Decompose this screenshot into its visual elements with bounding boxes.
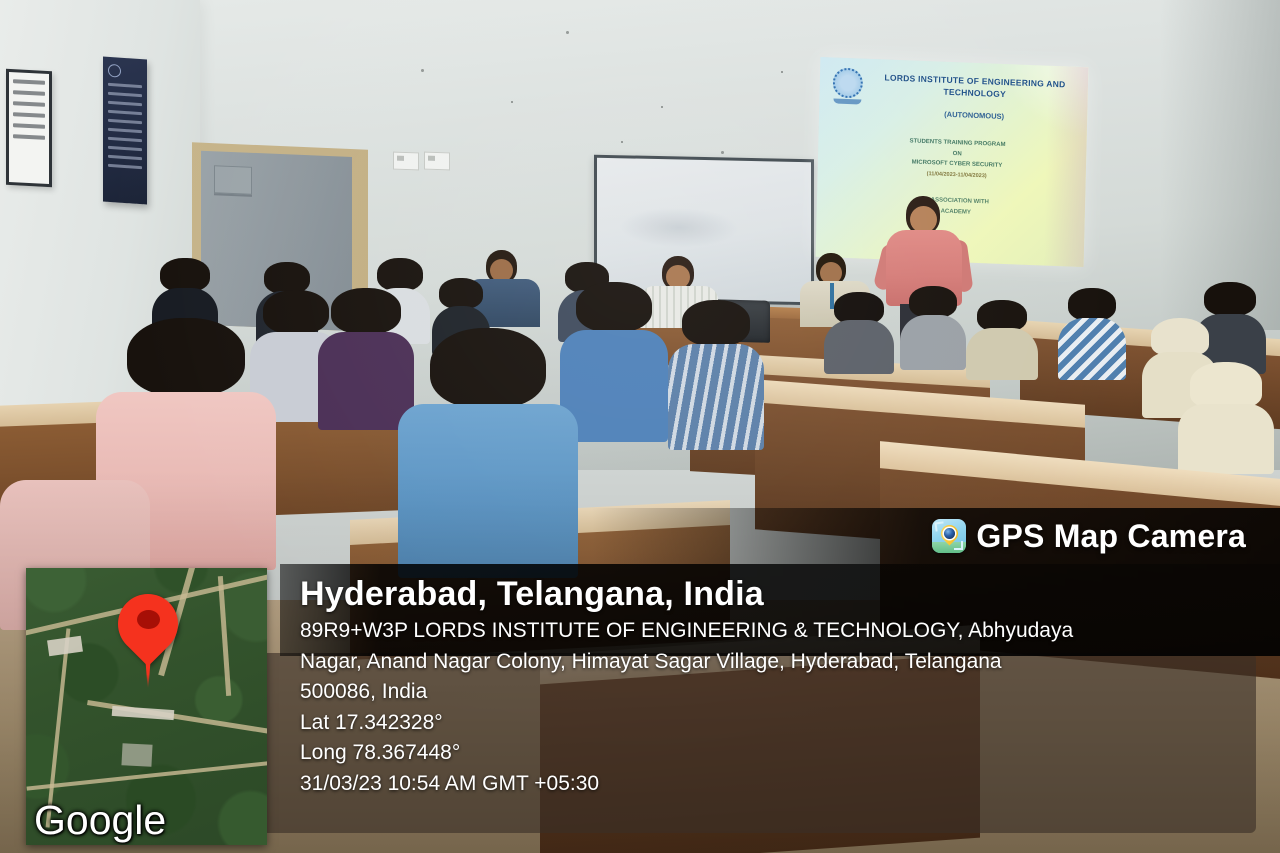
- person-student: [1058, 288, 1126, 380]
- map-building: [121, 743, 152, 767]
- location-text-block: Hyderabad, Telangana, India 89R9+W3P LOR…: [300, 574, 1260, 799]
- wall-switch-plate-2: [424, 152, 450, 171]
- door-panel-box: [214, 165, 252, 195]
- location-timestamp: 31/03/23 10:54 AM GMT +05:30: [300, 769, 1260, 800]
- location-address-line-2: Nagar, Anand Nagar Colony, Himayat Sagar…: [300, 647, 1260, 678]
- poster-seal-icon: [108, 64, 121, 78]
- institute-emblem-icon: [830, 66, 865, 103]
- location-address-line-3: 500086, India: [300, 677, 1260, 708]
- map-thumbnail[interactable]: Google: [26, 568, 267, 845]
- gps-map-camera-label: GPS Map Camera: [976, 518, 1246, 555]
- whiteboard-smudge: [619, 206, 739, 249]
- wall-poster-framed: [6, 69, 52, 187]
- slide-program-block: STUDENTS TRAINING PROGRAM ON MICROSOFT C…: [838, 134, 1077, 185]
- location-longitude: Long 78.367448°: [300, 738, 1260, 769]
- person-student: [900, 286, 966, 370]
- screenshot-root: LORDS INSTITUTE OF ENGINEERING AND TECHN…: [0, 0, 1280, 853]
- right-wall-edge: [1160, 0, 1280, 330]
- person-student-foreground: [398, 328, 578, 578]
- google-attribution: Google: [34, 799, 166, 841]
- map-pin-icon: [118, 594, 178, 654]
- gps-map-camera-watermark: GPS Map Camera: [592, 508, 1280, 564]
- location-title: Hyderabad, Telangana, India: [300, 574, 1260, 614]
- gps-map-camera-icon: [932, 519, 966, 553]
- person-student: [966, 300, 1038, 380]
- location-address-line-1: 89R9+W3P LORDS INSTITUTE OF ENGINEERING …: [300, 616, 1260, 647]
- person-student: [668, 300, 764, 450]
- location-latitude: Lat 17.342328°: [300, 708, 1260, 739]
- wall-switch-plate-1: [393, 152, 419, 171]
- person-student-hijab: [1178, 362, 1274, 474]
- person-student: [824, 292, 894, 374]
- wall-poster-blue: [103, 56, 147, 204]
